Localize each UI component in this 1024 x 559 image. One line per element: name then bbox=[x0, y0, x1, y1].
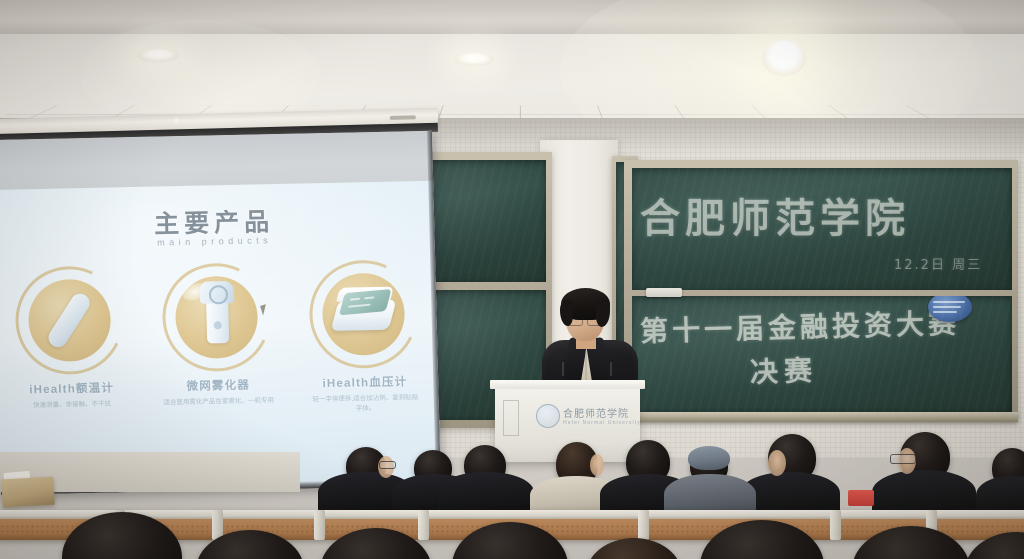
product-name: iHealth血压计 bbox=[291, 373, 438, 392]
blackboard-sticker bbox=[928, 296, 972, 322]
audience-shoulders bbox=[438, 472, 534, 514]
ceiling-light-center bbox=[454, 52, 494, 66]
blackboard-university-title: 合肥师范学院 bbox=[640, 186, 910, 244]
product-item: 微网雾化器 适合医用雾化产品在家雾化、一机专用 bbox=[142, 262, 292, 409]
audience-cap bbox=[688, 446, 730, 470]
lecture-hall-photo: 合肥师范学院 12.2日 周三 第十一届金融投资大赛 决赛 主要产品 main … bbox=[0, 0, 1024, 559]
product-badge bbox=[308, 259, 419, 369]
bench-rail bbox=[0, 510, 1024, 519]
bench-post bbox=[830, 510, 841, 540]
blackboard-date-note: 12.2日 周三 bbox=[894, 254, 982, 273]
audience-head bbox=[586, 538, 682, 559]
blackboard-banner-line2: 决赛 bbox=[749, 349, 818, 391]
product-description: 适合医用雾化产品在家雾化、一机专用 bbox=[145, 396, 292, 409]
presenter-hair-side-left bbox=[560, 300, 573, 326]
product-badge bbox=[15, 265, 126, 375]
audience-area bbox=[0, 420, 1024, 559]
screen-housing-bracket bbox=[390, 115, 416, 120]
presenter-pocket-left bbox=[562, 362, 564, 376]
ceiling-soffit bbox=[0, 0, 1024, 34]
blackboard-left-upper bbox=[430, 160, 546, 282]
product-item: iHealth血压计 轻一字体便拆,适合加沾例、复到贴贴字体。 bbox=[289, 259, 440, 416]
podium-university-name-cn: 合肥师范学院 bbox=[563, 405, 629, 420]
product-name: 微网雾化器 bbox=[145, 376, 292, 395]
product-name: iHealth额温计 bbox=[0, 379, 145, 398]
ceiling-light-right bbox=[762, 40, 806, 76]
product-description: 快速测量、非接触，不干扰 bbox=[0, 399, 146, 412]
bench-post bbox=[638, 510, 649, 540]
podium-top-surface bbox=[490, 380, 645, 389]
presenter-hair-side-right bbox=[596, 300, 610, 327]
nebulizer-button bbox=[214, 321, 222, 329]
blackboard-right-surface: 合肥师范学院 12.2日 周三 bbox=[632, 168, 1012, 290]
blackboard-right-lower-surface: 第十一届金融投资大赛 决赛 bbox=[632, 296, 1012, 412]
presenter-zipper bbox=[585, 350, 587, 384]
audience-face bbox=[768, 450, 786, 476]
product-description: 轻一字体便拆,适合加沾例、复到贴贴字体。 bbox=[292, 393, 439, 416]
audience-red-object bbox=[848, 490, 874, 506]
product-item: iHealth额温计 快速测量、非接触，不干扰 bbox=[0, 265, 146, 412]
presenter-pocket-right bbox=[610, 362, 612, 376]
glasses-icon bbox=[379, 461, 396, 469]
glasses-icon[interactable] bbox=[890, 454, 916, 464]
blackboard-eraser[interactable] bbox=[646, 288, 682, 297]
audience-face bbox=[590, 454, 604, 476]
bench-post bbox=[314, 510, 325, 540]
blackboard-banner-line1: 第十一届金融投资大赛 bbox=[640, 302, 961, 350]
bench-post bbox=[418, 510, 429, 540]
screen-housing-marker bbox=[174, 118, 179, 123]
product-badge bbox=[161, 262, 272, 372]
ceiling-light-left bbox=[137, 48, 179, 62]
